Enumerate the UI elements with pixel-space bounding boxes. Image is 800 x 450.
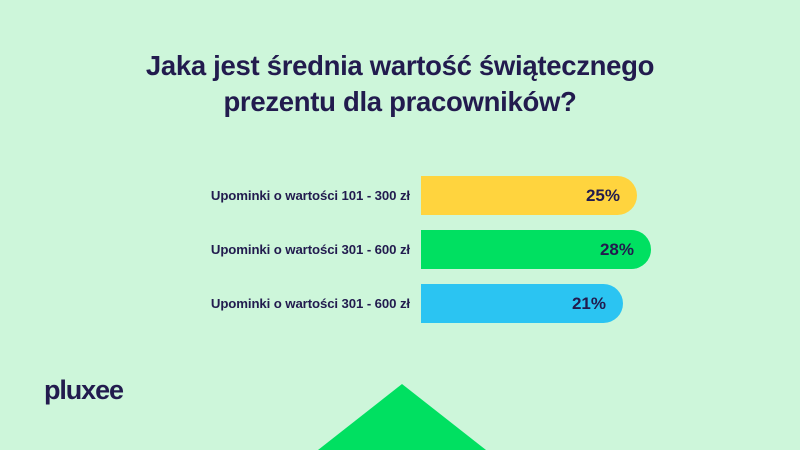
bar-fill-green: 28% (421, 230, 651, 269)
page-title: Jaka jest średnia wartość świątecznego p… (0, 48, 800, 120)
bar-track: 28% (421, 230, 651, 269)
bar-row: Upominki o wartości 301 - 600 zł 28% (0, 230, 800, 269)
bar-fill-yellow: 25% (421, 176, 637, 215)
triangle-shape (318, 384, 486, 450)
bar-category-label: Upominki o wartości 101 - 300 zł (0, 176, 410, 215)
pluxee-logo: pluxee (44, 375, 123, 406)
title-line-1: Jaka jest średnia wartość świątecznego (0, 48, 800, 84)
bar-category-label: Upominki o wartości 301 - 600 zł (0, 230, 410, 269)
bar-fill-blue: 21% (421, 284, 623, 323)
bar-row: Upominki o wartości 301 - 600 zł 21% (0, 284, 800, 323)
bar-chart: Upominki o wartości 101 - 300 zł 25% Upo… (0, 176, 800, 338)
bar-track: 25% (421, 176, 637, 215)
bar-track: 21% (421, 284, 623, 323)
green-triangle-icon (318, 384, 486, 450)
title-line-2: prezentu dla pracowników? (0, 84, 800, 120)
bar-category-label: Upominki o wartości 301 - 600 zł (0, 284, 410, 323)
bar-row: Upominki o wartości 101 - 300 zł 25% (0, 176, 800, 215)
bar-value-label: 25% (586, 176, 620, 215)
bar-value-label: 28% (600, 230, 634, 269)
infographic-canvas: Jaka jest średnia wartość świątecznego p… (0, 0, 800, 450)
bar-value-label: 21% (572, 284, 606, 323)
